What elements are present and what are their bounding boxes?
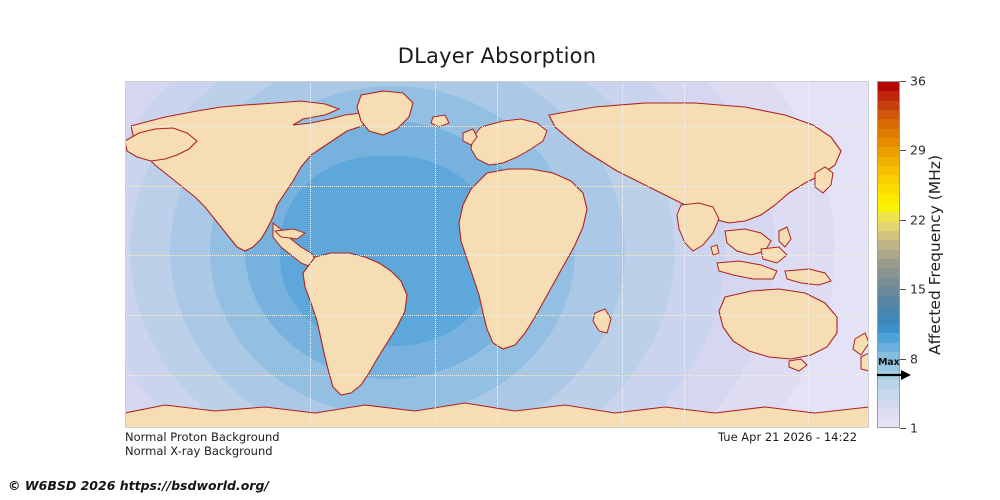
colorbar-band <box>878 166 899 175</box>
gridline-lat-0 <box>125 255 869 256</box>
colorbar-band <box>878 184 899 193</box>
colorbar-tick <box>900 428 906 429</box>
timestamp: Tue Apr 21 2026 - 14:22 <box>718 430 857 444</box>
colorbar-band <box>878 333 899 342</box>
figure-canvas: DLayer Absorption <box>0 0 1000 500</box>
colorbar-band <box>878 222 899 231</box>
colorbar-tick-label: 8 <box>910 351 918 366</box>
colorbar-band <box>878 361 899 370</box>
gridline-lat-30s <box>125 315 869 316</box>
proton-background-note: Normal Proton Background <box>125 430 280 444</box>
colorbar-tick <box>900 81 906 82</box>
colorbar-band <box>878 399 899 408</box>
map-axes[interactable] <box>125 81 869 428</box>
colorbar-band <box>878 175 899 184</box>
colorbar-band <box>878 315 899 324</box>
colorbar-band <box>878 231 899 240</box>
colorbar-band <box>878 110 899 119</box>
colorbar-band <box>878 240 899 249</box>
colorbar-band <box>878 212 899 221</box>
colorbar-band <box>878 250 899 259</box>
gridline-lat-60s <box>125 375 869 376</box>
colorbar-band <box>878 287 899 296</box>
colorbar-band <box>878 91 899 100</box>
gridline-lat-30n <box>125 186 869 187</box>
colorbar-band <box>878 417 899 426</box>
colorbar-band <box>878 296 899 305</box>
colorbar-tick <box>900 359 906 360</box>
colorbar-band <box>878 129 899 138</box>
colorbar-tick-label: 1 <box>910 421 918 436</box>
colorbar-band <box>878 408 899 417</box>
colorbar-band <box>878 352 899 361</box>
colorbar-tick <box>900 220 906 221</box>
colorbar-band <box>878 101 899 110</box>
colorbar-tick <box>900 289 906 290</box>
colorbar-band <box>878 278 899 287</box>
colorbar-tick <box>900 150 906 151</box>
colorbar-band <box>878 203 899 212</box>
colorbar-band <box>878 259 899 268</box>
credit-line: © W6BSD 2026 https://bsdworld.org/ <box>8 478 269 493</box>
colorbar-band <box>878 157 899 166</box>
colorbar-band <box>878 343 899 352</box>
colorbar-band <box>878 306 899 315</box>
colorbar-band <box>878 82 899 91</box>
colorbar-band <box>878 194 899 203</box>
colorbar-band <box>878 371 899 380</box>
colorbar[interactable] <box>877 81 900 428</box>
colorbar-band <box>878 324 899 333</box>
colorbar-band <box>878 380 899 389</box>
xray-background-note: Normal X-ray Background <box>125 444 273 458</box>
colorbar-band <box>878 119 899 128</box>
colorbar-band <box>878 138 899 147</box>
page-title: DLayer Absorption <box>0 44 1000 68</box>
colorbar-title: Affected Frequency (MHz) <box>926 155 944 355</box>
colorbar-band <box>878 268 899 277</box>
colorbar-title-holder: Affected Frequency (MHz) <box>922 81 948 428</box>
colorbar-band <box>878 147 899 156</box>
gridline-lat-60n <box>125 126 869 127</box>
colorbar-band <box>878 389 899 398</box>
